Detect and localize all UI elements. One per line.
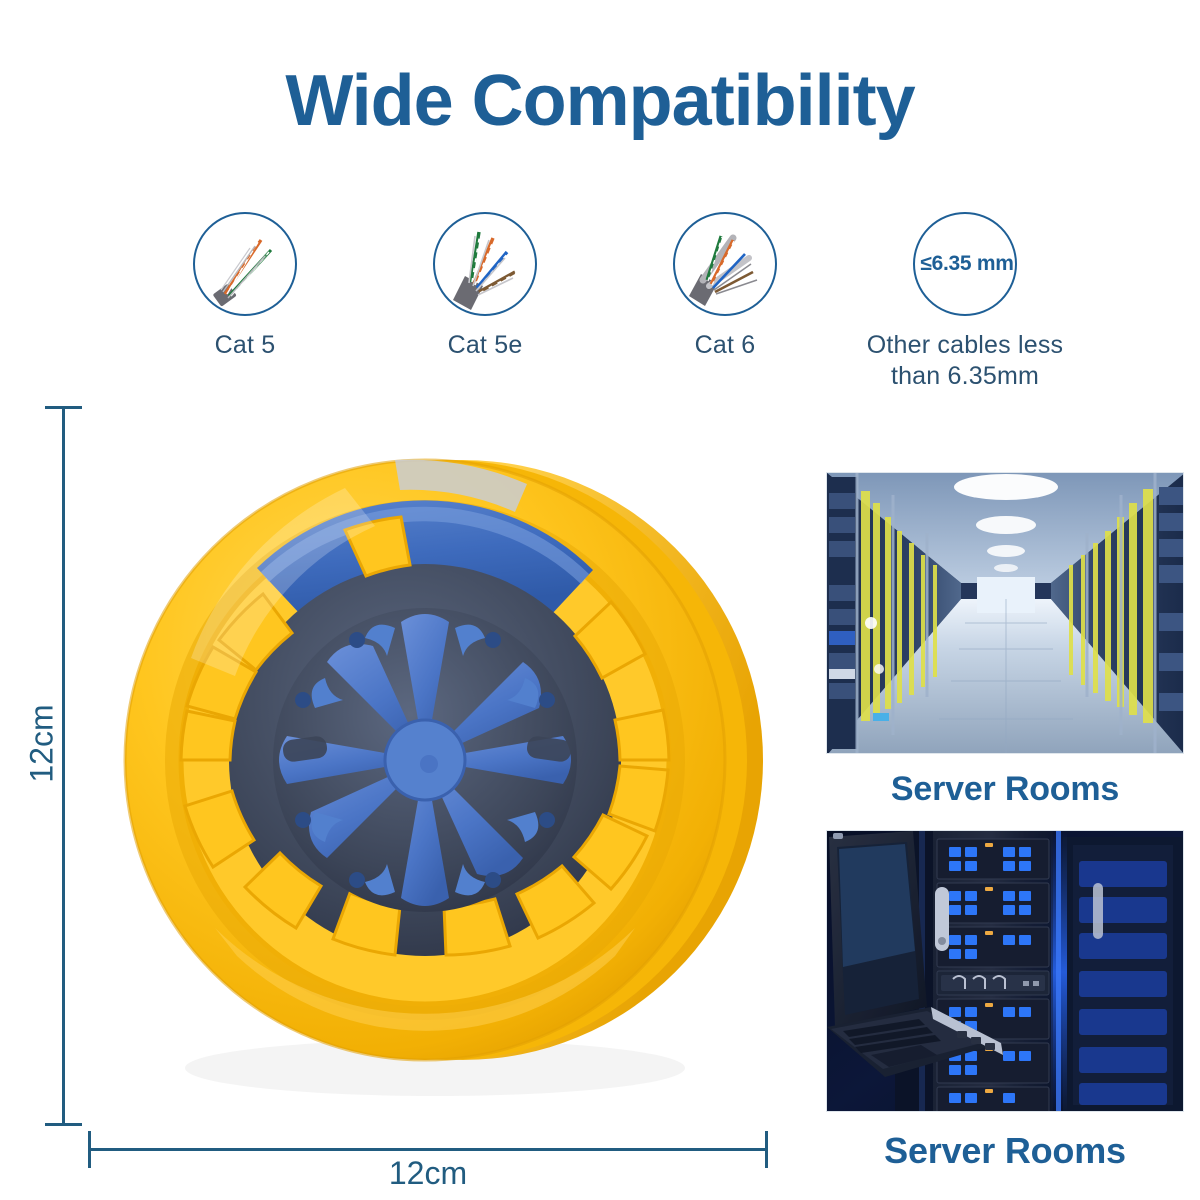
compatibility-row: Cat 5 [140, 212, 1070, 412]
cat6-cable-icon [673, 212, 777, 316]
compat-label: Cat 5e [448, 330, 523, 361]
compat-label: Cat 5 [215, 330, 276, 361]
compat-label: Cat 6 [695, 330, 756, 361]
photo-caption: Server Rooms [826, 770, 1184, 809]
product-image [95, 408, 785, 1108]
server-aisle-card: Server Rooms [826, 472, 1184, 809]
compat-item-diameter[interactable]: ≤6.35 mm Other cables less than 6.35mm [860, 212, 1070, 391]
compat-item-cat6[interactable]: Cat 6 [620, 212, 830, 361]
height-dimension-tick-bottom [45, 1123, 82, 1126]
compat-item-cat5e[interactable]: Cat 5e [380, 212, 590, 361]
diameter-value: ≤6.35 mm [915, 252, 1017, 276]
compat-label: Other cables less than 6.35mm [860, 330, 1070, 391]
height-dimension-line [62, 406, 65, 1126]
server-aisle-photo [826, 472, 1184, 754]
height-dimension-label: 12cm [24, 694, 61, 794]
page-title: Wide Compatibility [0, 60, 1200, 142]
cable-diameter-icon: ≤6.35 mm [913, 212, 1017, 316]
server-rack-card: Server Rooms [826, 830, 1184, 1172]
cat5e-cable-icon [433, 212, 537, 316]
compat-item-cat5[interactable]: Cat 5 [140, 212, 350, 361]
width-dimension-label: 12cm [88, 1155, 768, 1192]
photo-caption: Server Rooms [826, 1130, 1184, 1172]
cat5-cable-icon [193, 212, 297, 316]
infographic-page: Wide Compatibility [0, 0, 1200, 1200]
server-rack-photo [826, 830, 1184, 1112]
width-dimension-line [88, 1148, 768, 1151]
height-dimension-tick-top [45, 406, 82, 409]
